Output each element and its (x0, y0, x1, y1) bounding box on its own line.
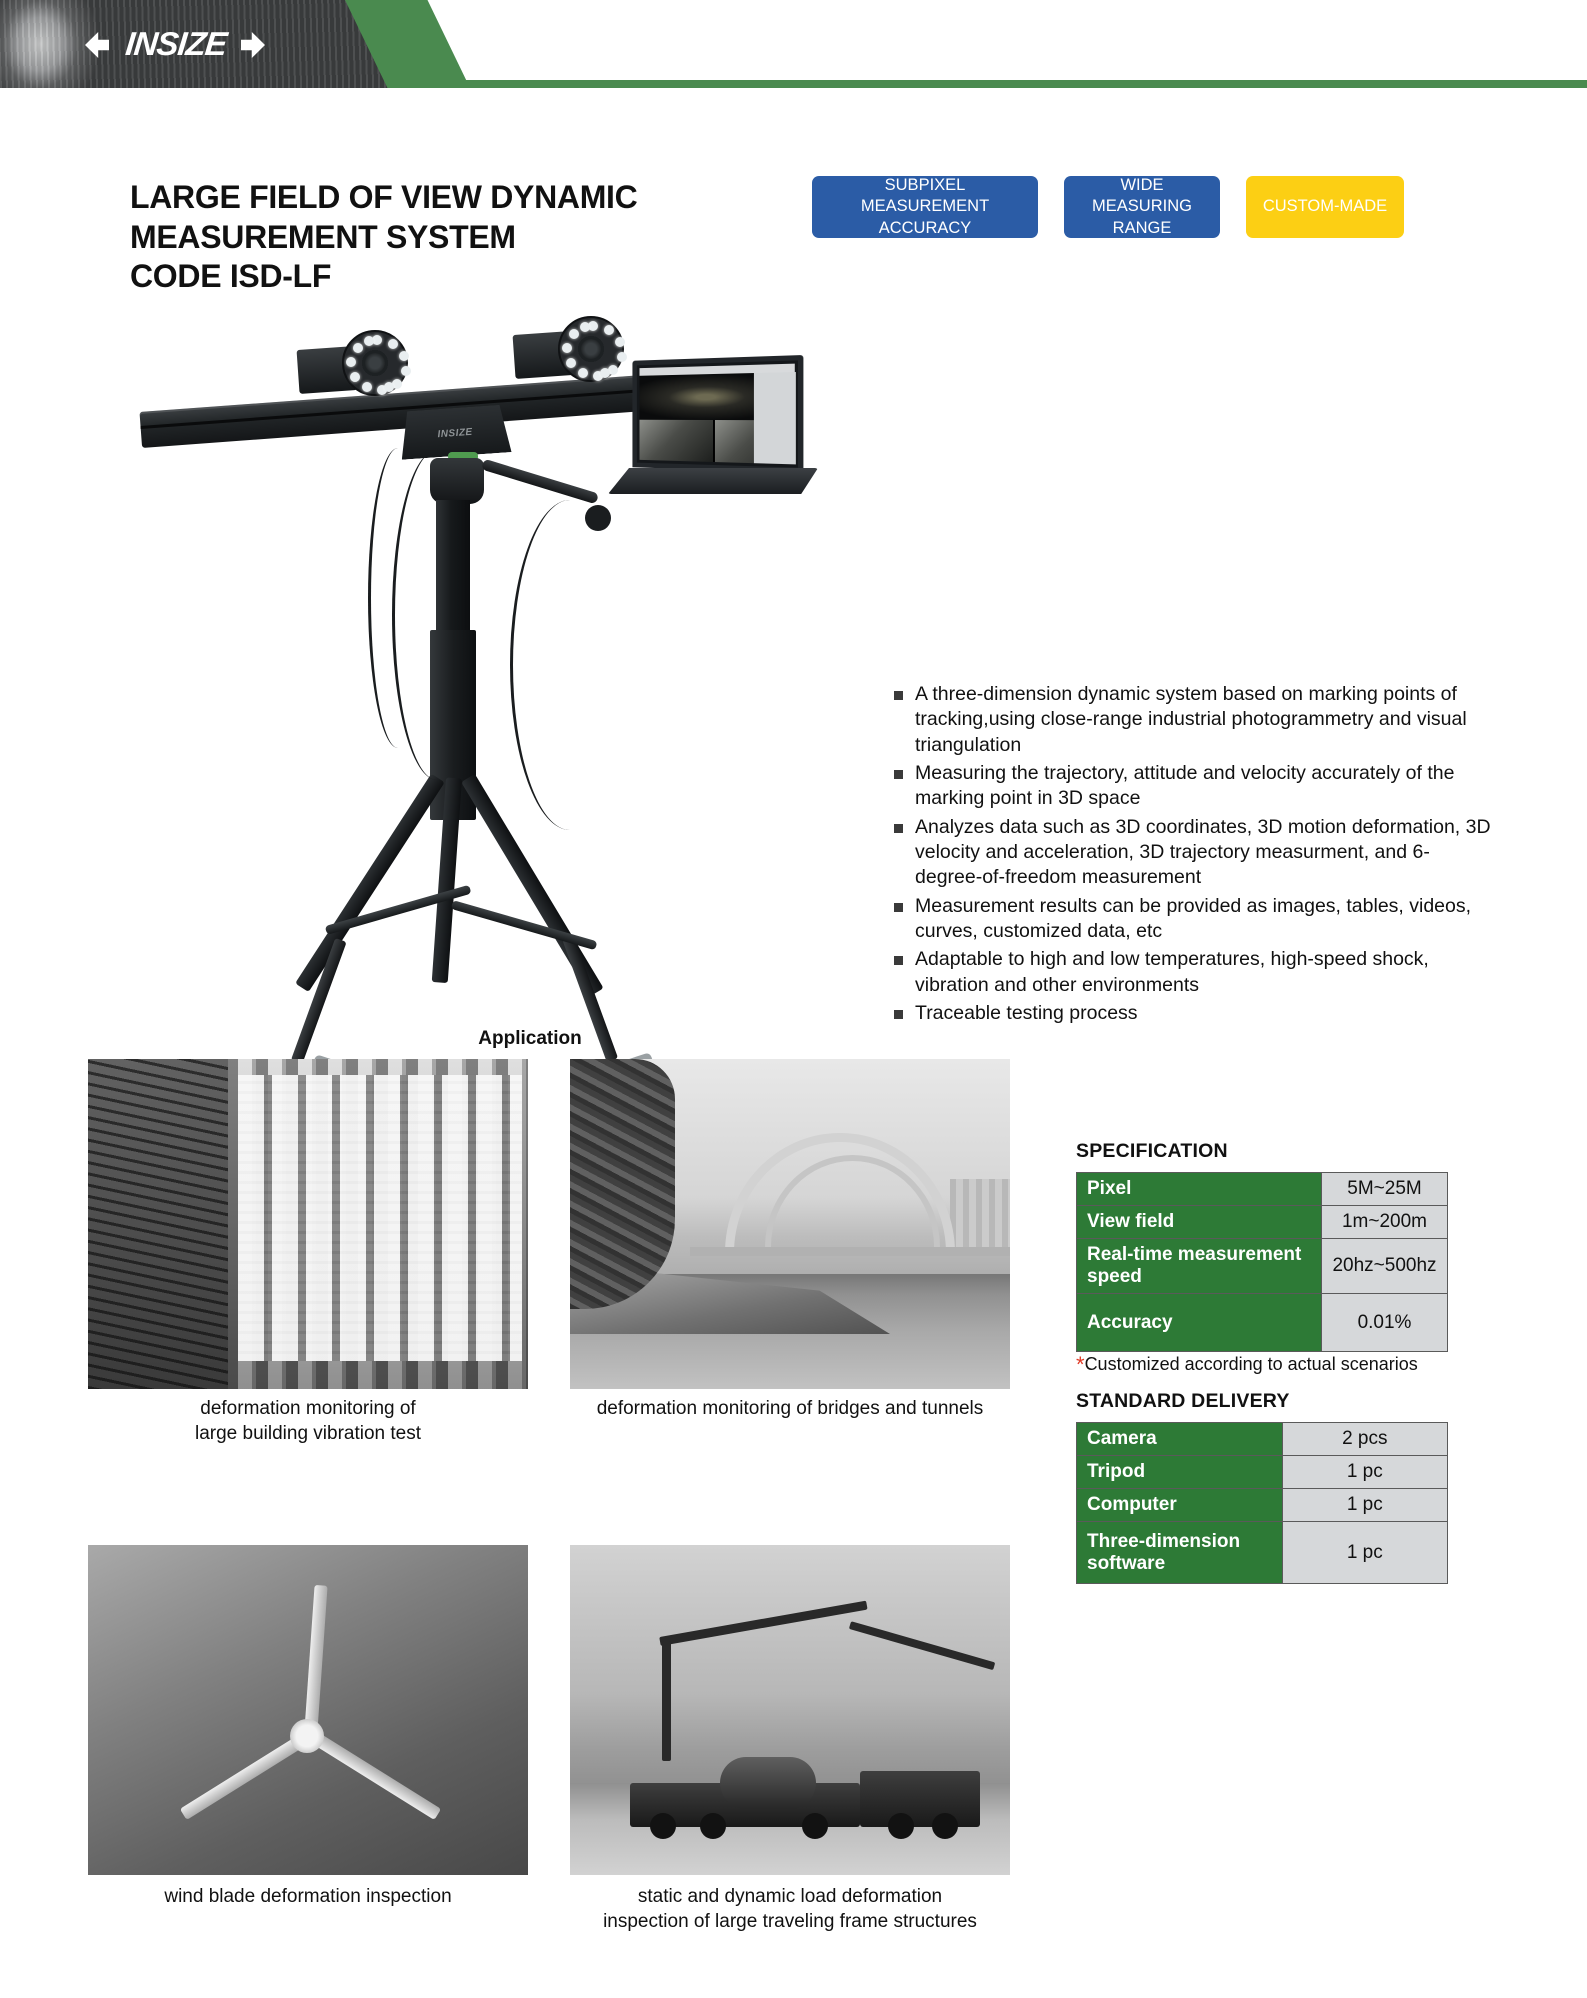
ring-light-left (342, 330, 408, 396)
building-vibration-photo (88, 1059, 528, 1389)
specification-footnote: *Customized according to actual scenario… (1076, 1352, 1418, 1378)
feature-badges: SUBPIXEL MEASUREMENT ACCURACY WIDE MEASU… (812, 176, 1404, 238)
traveling-frame-photo (570, 1545, 1010, 1875)
datasheet-page: INSIZE LARGE FIELD OF VIEW DYNAMIC MEASU… (0, 0, 1587, 1998)
laptop-keyboard-base (608, 468, 818, 494)
caption-building-vibration: deformation monitoring oflarge building … (88, 1396, 528, 1446)
list-item: Traceable testing process (894, 1001, 1494, 1026)
table-row: Pixel 5M~25M (1077, 1173, 1448, 1206)
spec-label-speed: Real-time measurement speed (1077, 1239, 1322, 1294)
feature-list: A three-dimension dynamic system based o… (894, 682, 1494, 1029)
spec-value-speed: 20hz~500hz (1322, 1239, 1448, 1294)
spec-label-pixel: Pixel (1077, 1173, 1322, 1206)
list-item: Measuring the trajectory, attitude and v… (894, 761, 1494, 812)
badge-wide-measuring-range: WIDE MEASURING RANGE (1064, 176, 1220, 238)
bullet-square-icon (894, 1010, 903, 1019)
bullet-square-icon (894, 770, 903, 779)
table-row: Three-dimension software 1 pc (1077, 1522, 1448, 1584)
lens-left (365, 353, 385, 373)
spec-label-accuracy: Accuracy (1077, 1294, 1322, 1352)
title-line-1: LARGE FIELD OF VIEW DYNAMIC (130, 178, 770, 218)
tripod-brace-right (451, 900, 598, 950)
list-item: Measurement results can be provided as i… (894, 894, 1494, 945)
spec-label-view-field: View field (1077, 1206, 1322, 1239)
software-control-panel (754, 372, 796, 464)
footnote-text: Customized according to actual scenarios (1085, 1354, 1418, 1374)
bar-logo-text: INSIZE (400, 424, 510, 443)
lens-right (581, 339, 601, 359)
table-row: Tripod 1 pc (1077, 1456, 1448, 1489)
spec-value-accuracy: 0.01% (1322, 1294, 1448, 1352)
tripod-pan-handle (481, 459, 599, 505)
insize-logo: INSIZE (85, 25, 265, 67)
application-heading: Application (0, 1028, 1060, 1050)
list-item: A three-dimension dynamic system based o… (894, 682, 1494, 758)
table-row: Real-time measurement speed 20hz~500hz (1077, 1239, 1448, 1294)
page-title: LARGE FIELD OF VIEW DYNAMIC MEASUREMENT … (130, 178, 770, 297)
delivery-label-software: Three-dimension software (1077, 1522, 1283, 1584)
table-row: Accuracy 0.01% (1077, 1294, 1448, 1352)
spec-value-view-field: 1m~200m (1322, 1206, 1448, 1239)
wind-blade-photo (88, 1545, 528, 1875)
badge-subpixel-accuracy: SUBPIXEL MEASUREMENT ACCURACY (812, 176, 1038, 238)
list-item: Analyzes data such as 3D coordinates, 3D… (894, 815, 1494, 891)
standard-delivery-table: Camera 2 pcs Tripod 1 pc Computer 1 pc T… (1076, 1422, 1448, 1584)
tripod-leg-left (295, 774, 445, 992)
specification-table: Pixel 5M~25M View field 1m~200m Real-tim… (1076, 1172, 1448, 1352)
header-green-rule (400, 80, 1587, 88)
camera-cable-to-laptop (510, 500, 630, 830)
laptop-computer (608, 358, 818, 508)
bullet-square-icon (894, 691, 903, 700)
delivery-value-camera: 2 pcs (1282, 1423, 1447, 1456)
bullet-square-icon (894, 956, 903, 965)
caption-bridge-tunnel: deformation monitoring of bridges and tu… (540, 1396, 1040, 1421)
bullet-square-icon (894, 824, 903, 833)
camera-cable-right (392, 450, 482, 780)
delivery-value-computer: 1 pc (1282, 1489, 1447, 1522)
delivery-label-tripod: Tripod (1077, 1456, 1283, 1489)
delivery-label-computer: Computer (1077, 1489, 1283, 1522)
bullet-square-icon (894, 903, 903, 912)
table-row: View field 1m~200m (1077, 1206, 1448, 1239)
asterisk-icon: * (1076, 1352, 1085, 1377)
specification-heading: SPECIFICATION (1076, 1140, 1228, 1163)
standard-delivery-heading: STANDARD DELIVERY (1076, 1390, 1290, 1413)
page-header: INSIZE (0, 0, 1587, 92)
table-row: Computer 1 pc (1077, 1489, 1448, 1522)
table-row: Camera 2 pcs (1077, 1423, 1448, 1456)
delivery-label-camera: Camera (1077, 1423, 1283, 1456)
badge-custom-made: CUSTOM-MADE (1246, 176, 1404, 238)
title-line-3-product-code: CODE ISD-LF (130, 257, 770, 297)
delivery-value-software: 1 pc (1282, 1522, 1447, 1584)
caption-wind-blade: wind blade deformation inspection (88, 1884, 528, 1909)
laptop-screen (632, 355, 803, 473)
camera-view-left (640, 420, 713, 462)
title-line-2: MEASUREMENT SYSTEM (130, 218, 770, 258)
list-item: Adaptable to high and low temperatures, … (894, 947, 1494, 998)
spec-value-pixel: 5M~25M (1322, 1173, 1448, 1206)
bridge-tunnel-photo (570, 1059, 1010, 1389)
logo-text: INSIZE (103, 25, 249, 63)
caption-traveling-frame: static and dynamic load deformationinspe… (530, 1884, 1050, 1934)
product-photo: INSIZE (130, 300, 870, 1020)
delivery-value-tripod: 1 pc (1282, 1456, 1447, 1489)
